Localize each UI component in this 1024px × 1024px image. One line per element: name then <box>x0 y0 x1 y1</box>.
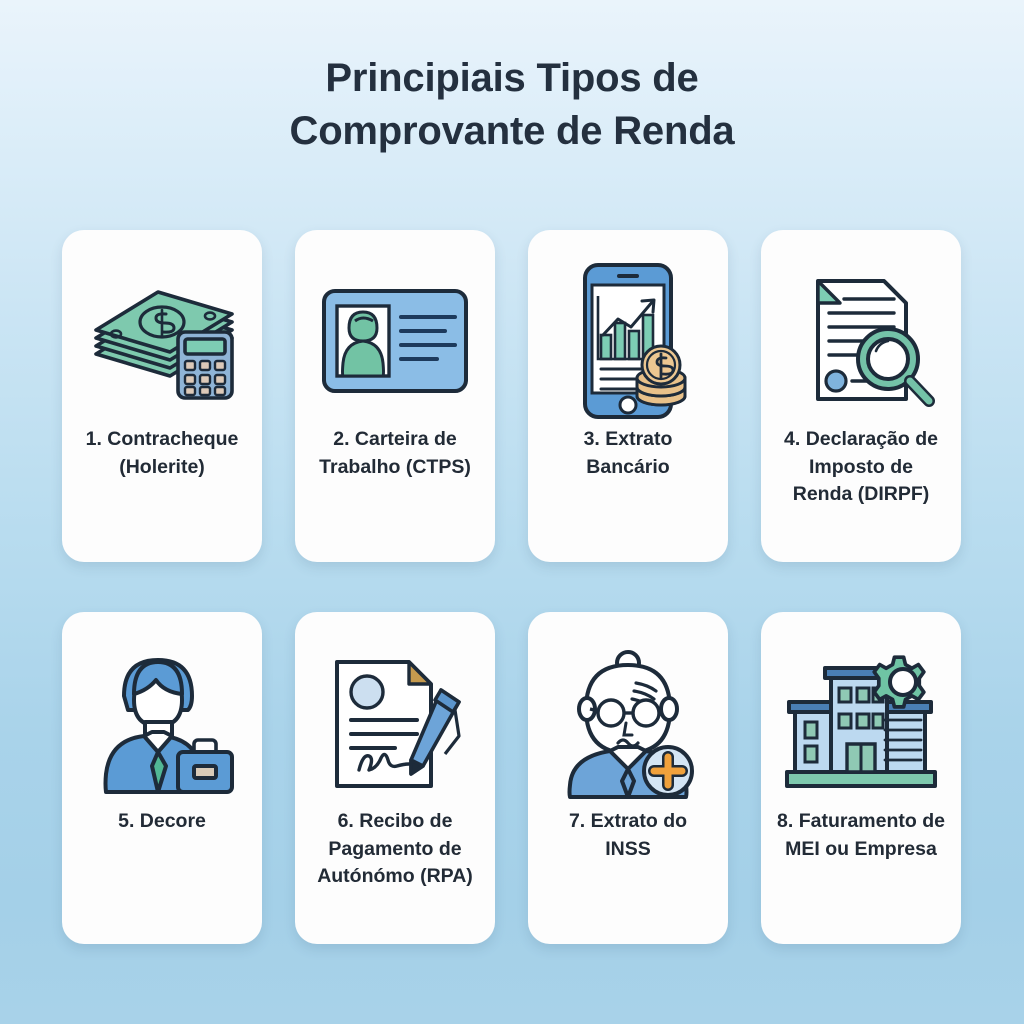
company-building-gear-icon <box>771 638 951 808</box>
signed-receipt-pen-icon <box>305 638 485 808</box>
page-title: Principiais Tipos de Comprovante de Rend… <box>0 52 1024 158</box>
card-label: 8. Faturamento de MEI ou Empresa <box>771 808 951 863</box>
card-carteira-trabalho[interactable]: 2. Carteira de Trabalho (CTPS) <box>295 230 495 562</box>
card-recibo-pagamento-autonomo[interactable]: 6. Recibo de Pagamento de Autónómo (RPA) <box>295 612 495 944</box>
card-extrato-inss[interactable]: 7. Extrato do INSS <box>528 612 728 944</box>
card-extrato-bancario[interactable]: 3. Extrato Bancário <box>528 230 728 562</box>
businessman-briefcase-icon <box>72 638 252 808</box>
card-label: 3. Extrato Bancário <box>538 426 718 481</box>
smartphone-chart-coins-icon <box>538 256 718 426</box>
card-faturamento-mei-empresa[interactable]: 8. Faturamento de MEI ou Empresa <box>761 612 961 944</box>
infographic-canvas: Principiais Tipos de Comprovante de Rend… <box>0 0 1024 1024</box>
page-title-line-1: Principiais Tipos de <box>0 52 1024 105</box>
page-title-line-2: Comprovante de Renda <box>0 105 1024 158</box>
card-label: 6. Recibo de Pagamento de Autónómo (RPA) <box>305 808 485 891</box>
card-label: 1. Contracheque (Holerite) <box>72 426 252 481</box>
cash-calculator-icon <box>72 256 252 426</box>
card-label: 7. Extrato do INSS <box>538 808 718 863</box>
card-label: 2. Carteira de Trabalho (CTPS) <box>305 426 485 481</box>
card-grid: 1. Contracheque (Holerite) <box>62 230 962 944</box>
elderly-person-medical-icon <box>538 638 718 808</box>
card-label: 4. Declaração de Imposto de Renda (DIRPF… <box>771 426 951 509</box>
card-declaracao-imposto-renda[interactable]: 4. Declaração de Imposto de Renda (DIRPF… <box>761 230 961 562</box>
document-magnifier-icon <box>771 256 951 426</box>
card-label: 5. Decore <box>112 808 212 836</box>
card-contracheque[interactable]: 1. Contracheque (Holerite) <box>62 230 262 562</box>
card-decore[interactable]: 5. Decore <box>62 612 262 944</box>
id-card-icon <box>305 256 485 426</box>
